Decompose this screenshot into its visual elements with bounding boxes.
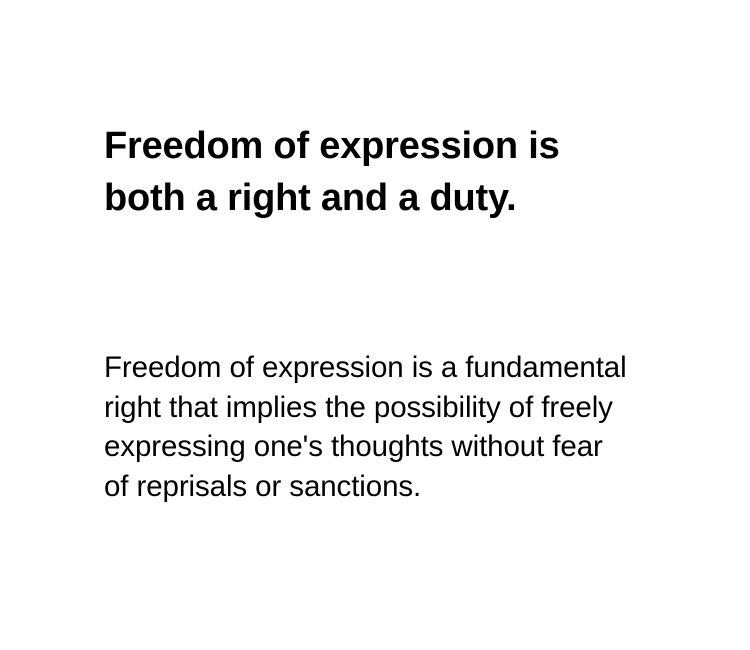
slide-canvas: Freedom of expression is both a right an… [0,0,750,650]
body-paragraph: Freedom of expression is a fundamental r… [104,348,632,506]
page-title: Freedom of expression is both a right an… [104,120,632,224]
